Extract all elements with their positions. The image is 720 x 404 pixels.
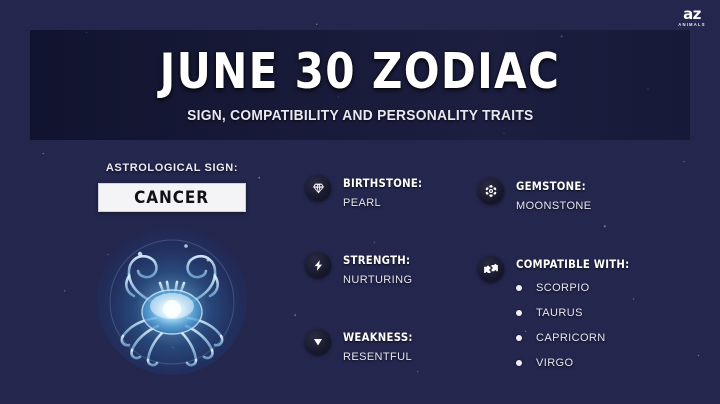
fact-row-birthstone: BIRTHSTONE: PEARL — [305, 175, 455, 209]
logo-mark: az — [683, 7, 701, 22]
page-title: JUNE 30 ZODIAC — [160, 47, 561, 96]
bullet-icon — [516, 310, 522, 316]
gemstone-label: GEMSTONE: — [516, 179, 586, 193]
strength-label: STRENGTH: — [343, 253, 410, 267]
zodiac-infographic: az ANIMALS JUNE 30 ZODIAC SIGN, COMPATIB… — [0, 0, 720, 404]
compatible-sign-item: TAURUS — [516, 307, 645, 319]
compatible-signs-list: SCORPIOTAURUSCAPRICORNVIRGO — [516, 282, 645, 369]
compatible-sign-name: CAPRICORN — [536, 332, 606, 344]
puzzle-pieces-icon — [478, 256, 504, 282]
compatible-sign-item: CAPRICORN — [516, 332, 645, 344]
birthstone-label: BIRTHSTONE: — [343, 176, 422, 190]
fact-row-compatible: COMPATIBLE WITH: SCORPIOTAURUSCAPRICORNV… — [478, 256, 693, 382]
bullet-icon — [516, 360, 522, 366]
title-banner: JUNE 30 ZODIAC SIGN, COMPATIBILITY AND P… — [30, 30, 690, 140]
page-subtitle: SIGN, COMPATIBILITY AND PERSONALITY TRAI… — [187, 108, 533, 124]
fact-text-compatible: COMPATIBLE WITH: SCORPIOTAURUSCAPRICORNV… — [516, 256, 645, 382]
compatible-sign-name: SCORPIO — [536, 282, 590, 294]
cancer-crab-icon — [96, 230, 248, 370]
bullet-icon — [516, 285, 522, 291]
birthstone-value: PEARL — [343, 197, 433, 209]
bullet-icon — [516, 335, 522, 341]
astrological-sign-label: ASTROLOGICAL SIGN: — [106, 162, 238, 174]
fact-text-strength: STRENGTH: NURTURING — [343, 252, 419, 286]
logo-wordmark: ANIMALS — [678, 23, 705, 27]
fact-row-gemstone: GEMSTONE: MOONSTONE — [478, 178, 693, 212]
az-animals-logo[interactable]: az ANIMALS — [670, 4, 714, 30]
weakness-label: WEAKNESS: — [343, 330, 413, 344]
compatible-label: COMPATIBLE WITH: — [516, 257, 629, 271]
strength-value: NURTURING — [343, 274, 419, 286]
fact-text-weakness: WEAKNESS: RESENTFUL — [343, 329, 422, 363]
cancer-crab-emblem — [96, 230, 248, 370]
compatible-sign-name: VIRGO — [536, 357, 573, 369]
weakness-value: RESENTFUL — [343, 351, 422, 363]
compatible-sign-item: SCORPIO — [516, 282, 645, 294]
round-gem-icon — [478, 178, 504, 204]
compatible-sign-item: VIRGO — [516, 357, 645, 369]
fact-row-strength: STRENGTH: NURTURING — [305, 252, 455, 286]
sign-name-value: CANCER — [135, 188, 210, 208]
facts-column-right: GEMSTONE: MOONSTONE COMPATIBLE WITH: SCO… — [478, 178, 693, 382]
fact-row-weakness: WEAKNESS: RESENTFUL — [305, 329, 455, 363]
fact-text-gemstone: GEMSTONE: MOONSTONE — [516, 178, 595, 212]
gemstone-value: MOONSTONE — [516, 200, 595, 212]
facts-column-left: BIRTHSTONE: PEARL STRENGTH: NURTURING — [305, 175, 455, 363]
sign-name-box: CANCER — [98, 183, 246, 212]
lightning-bolt-icon — [305, 252, 331, 278]
fact-text-birthstone: BIRTHSTONE: PEARL — [343, 175, 433, 209]
down-triangle-icon — [305, 329, 331, 355]
astrological-sign-panel: ASTROLOGICAL SIGN: CANCER — [62, 162, 282, 370]
compatible-sign-name: TAURUS — [536, 307, 583, 319]
diamond-icon — [305, 175, 331, 201]
